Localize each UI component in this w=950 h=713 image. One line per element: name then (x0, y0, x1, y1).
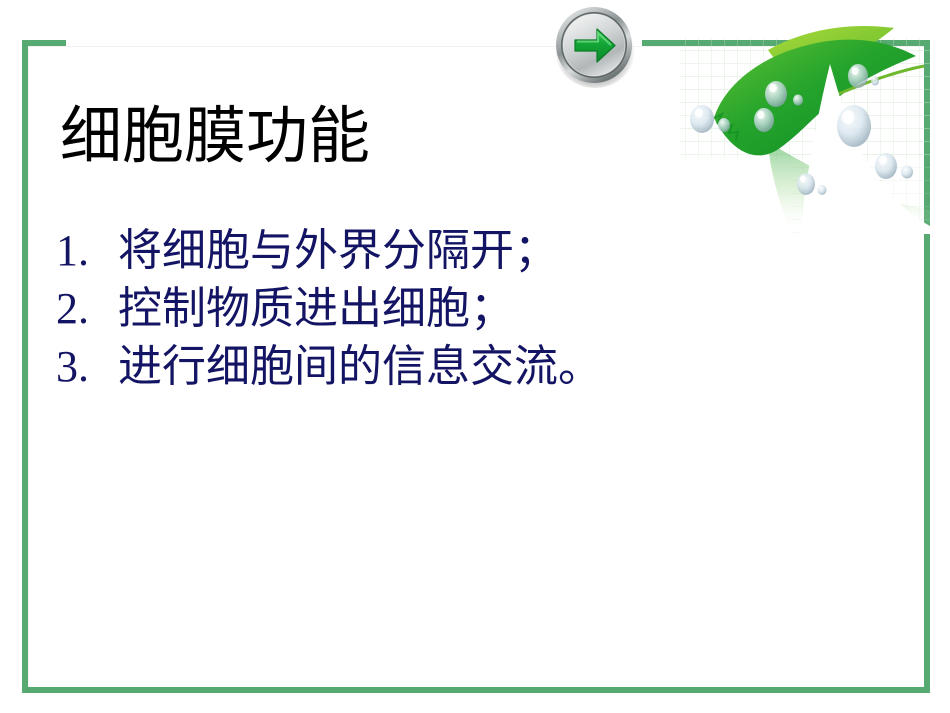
list-item-number: 2. (56, 280, 118, 338)
list-item-text: 进行细胞间的信息交流。 (118, 338, 602, 396)
list-item: 3. 进行细胞间的信息交流。 (56, 338, 876, 396)
frame-border-top-left (22, 40, 66, 46)
list-item-number: 1. (56, 222, 118, 280)
frame-border-bottom (22, 687, 930, 693)
arrow-right-icon[interactable] (553, 4, 637, 88)
frame-border-left (22, 40, 28, 693)
function-list: 1. 将细胞与外界分隔开； 2. 控制物质进出细胞； 3. 进行细胞间的信息交流… (56, 222, 876, 396)
leaf-with-water-drops-icon (672, 24, 930, 234)
slide-canvas: 细胞膜功能 1. 将细胞与外界分隔开； 2. 控制物质进出细胞； 3. 进行细胞… (0, 0, 950, 713)
page-title: 细胞膜功能 (60, 104, 370, 171)
list-item-number: 3. (56, 338, 118, 396)
list-item-text: 将细胞与外界分隔开； (118, 222, 558, 280)
list-item-text: 控制物质进出细胞； (118, 280, 514, 338)
list-item: 2. 控制物质进出细胞； (56, 280, 876, 338)
list-item: 1. 将细胞与外界分隔开； (56, 222, 876, 280)
